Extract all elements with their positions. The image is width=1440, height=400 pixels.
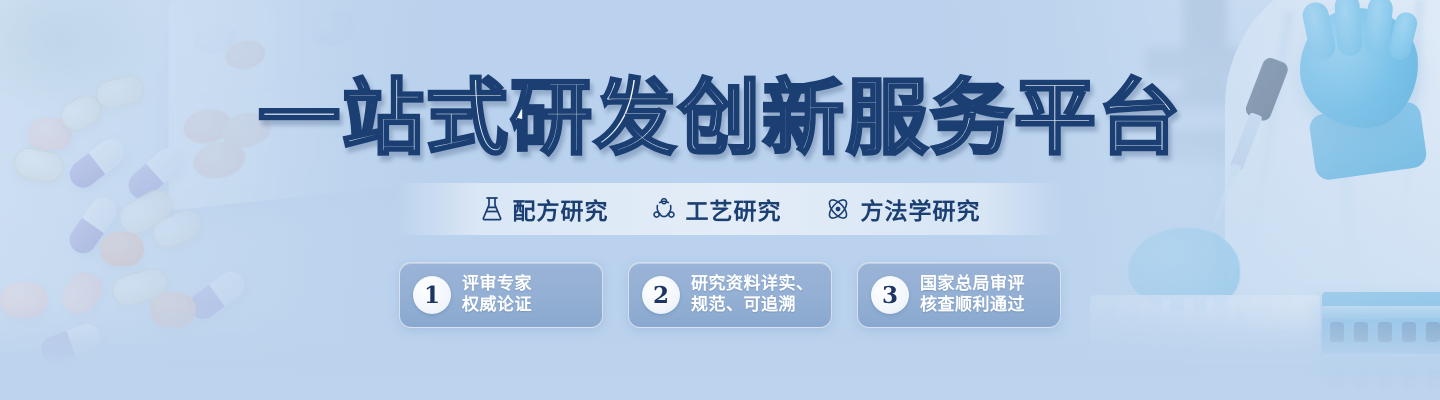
card-number-badge: 1 bbox=[413, 276, 451, 314]
research-item-label: 配方研究 bbox=[513, 192, 609, 226]
atom-icon bbox=[824, 196, 852, 222]
research-item-label: 工艺研究 bbox=[686, 192, 782, 226]
feature-cards: 1 评审专家 权威论证 2 研究资料详实、 规范、可追溯 3 国家总局审评 核查… bbox=[399, 262, 1061, 328]
feature-card-2[interactable]: 2 研究资料详实、 规范、可追溯 bbox=[628, 262, 832, 328]
card-line-1: 评审专家 bbox=[462, 274, 532, 294]
flask-icon bbox=[480, 196, 504, 222]
research-item-label: 方法学研究 bbox=[861, 192, 981, 226]
card-text: 研究资料详实、 规范、可追溯 bbox=[691, 274, 814, 315]
banner-title: 一站式研发创新服务平台 bbox=[0, 78, 1440, 160]
card-number-badge: 2 bbox=[642, 276, 680, 314]
card-number-badge: 3 bbox=[871, 276, 909, 314]
feature-card-1[interactable]: 1 评审专家 权威论证 bbox=[399, 262, 603, 328]
research-types-band: 配方研究 工艺研究 bbox=[396, 183, 1064, 235]
research-item-process[interactable]: 工艺研究 bbox=[651, 192, 782, 226]
research-item-formulation[interactable]: 配方研究 bbox=[480, 192, 609, 226]
card-text: 国家总局审评 核查顺利通过 bbox=[920, 274, 1025, 315]
card-line-2: 核查顺利通过 bbox=[920, 295, 1025, 316]
promo-banner: 一站式研发创新服务平台 配方研究 bbox=[0, 0, 1440, 400]
card-line-1: 研究资料详实、 bbox=[691, 274, 814, 294]
feature-card-3[interactable]: 3 国家总局审评 核查顺利通过 bbox=[857, 262, 1061, 328]
card-line-1: 国家总局审评 bbox=[920, 274, 1025, 294]
card-text: 评审专家 权威论证 bbox=[462, 274, 532, 315]
molecule-icon bbox=[651, 196, 677, 222]
card-line-2: 权威论证 bbox=[462, 295, 532, 316]
research-item-methodology[interactable]: 方法学研究 bbox=[824, 192, 981, 226]
card-line-2: 规范、可追溯 bbox=[691, 295, 814, 316]
